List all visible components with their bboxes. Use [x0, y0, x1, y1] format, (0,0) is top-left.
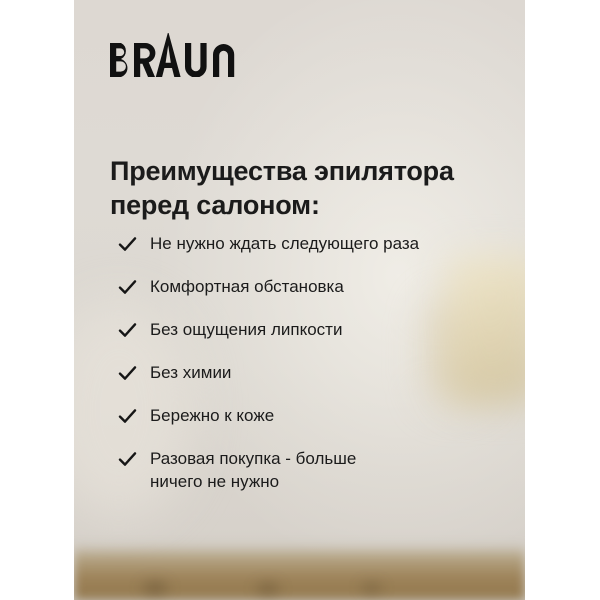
page-title: Преимущества эпилятора перед салоном:	[110, 154, 510, 222]
list-item: Не нужно ждать следующего раза	[118, 232, 513, 256]
check-icon	[118, 318, 137, 342]
list-item-label: Бережно к коже	[150, 404, 274, 427]
check-icon	[118, 361, 137, 385]
list-item: Разовая покупка - больше ничего не нужно	[118, 447, 513, 494]
braun-wordmark-icon	[110, 33, 239, 77]
promo-card: Преимущества эпилятора перед салоном: Не…	[0, 0, 600, 600]
list-item: Без химии	[118, 361, 513, 385]
check-icon	[118, 232, 137, 256]
braun-logo	[110, 33, 239, 77]
check-icon	[118, 447, 137, 471]
benefits-list: Не нужно ждать следующего раза Комфортна…	[118, 232, 513, 494]
list-item-label: Без ощущения липкости	[150, 318, 342, 341]
check-icon	[118, 404, 137, 428]
list-item-label: Разовая покупка - больше ничего не нужно	[150, 447, 356, 494]
list-item: Комфортная обстановка	[118, 275, 513, 299]
list-item-label: Не нужно ждать следующего раза	[150, 232, 419, 255]
list-item-label: Без химии	[150, 361, 231, 384]
list-item: Без ощущения липкости	[118, 318, 513, 342]
list-item: Бережно к коже	[118, 404, 513, 428]
content-layer: Преимущества эпилятора перед салоном: Не…	[0, 0, 600, 600]
list-item-label: Комфортная обстановка	[150, 275, 344, 298]
check-icon	[118, 275, 137, 299]
